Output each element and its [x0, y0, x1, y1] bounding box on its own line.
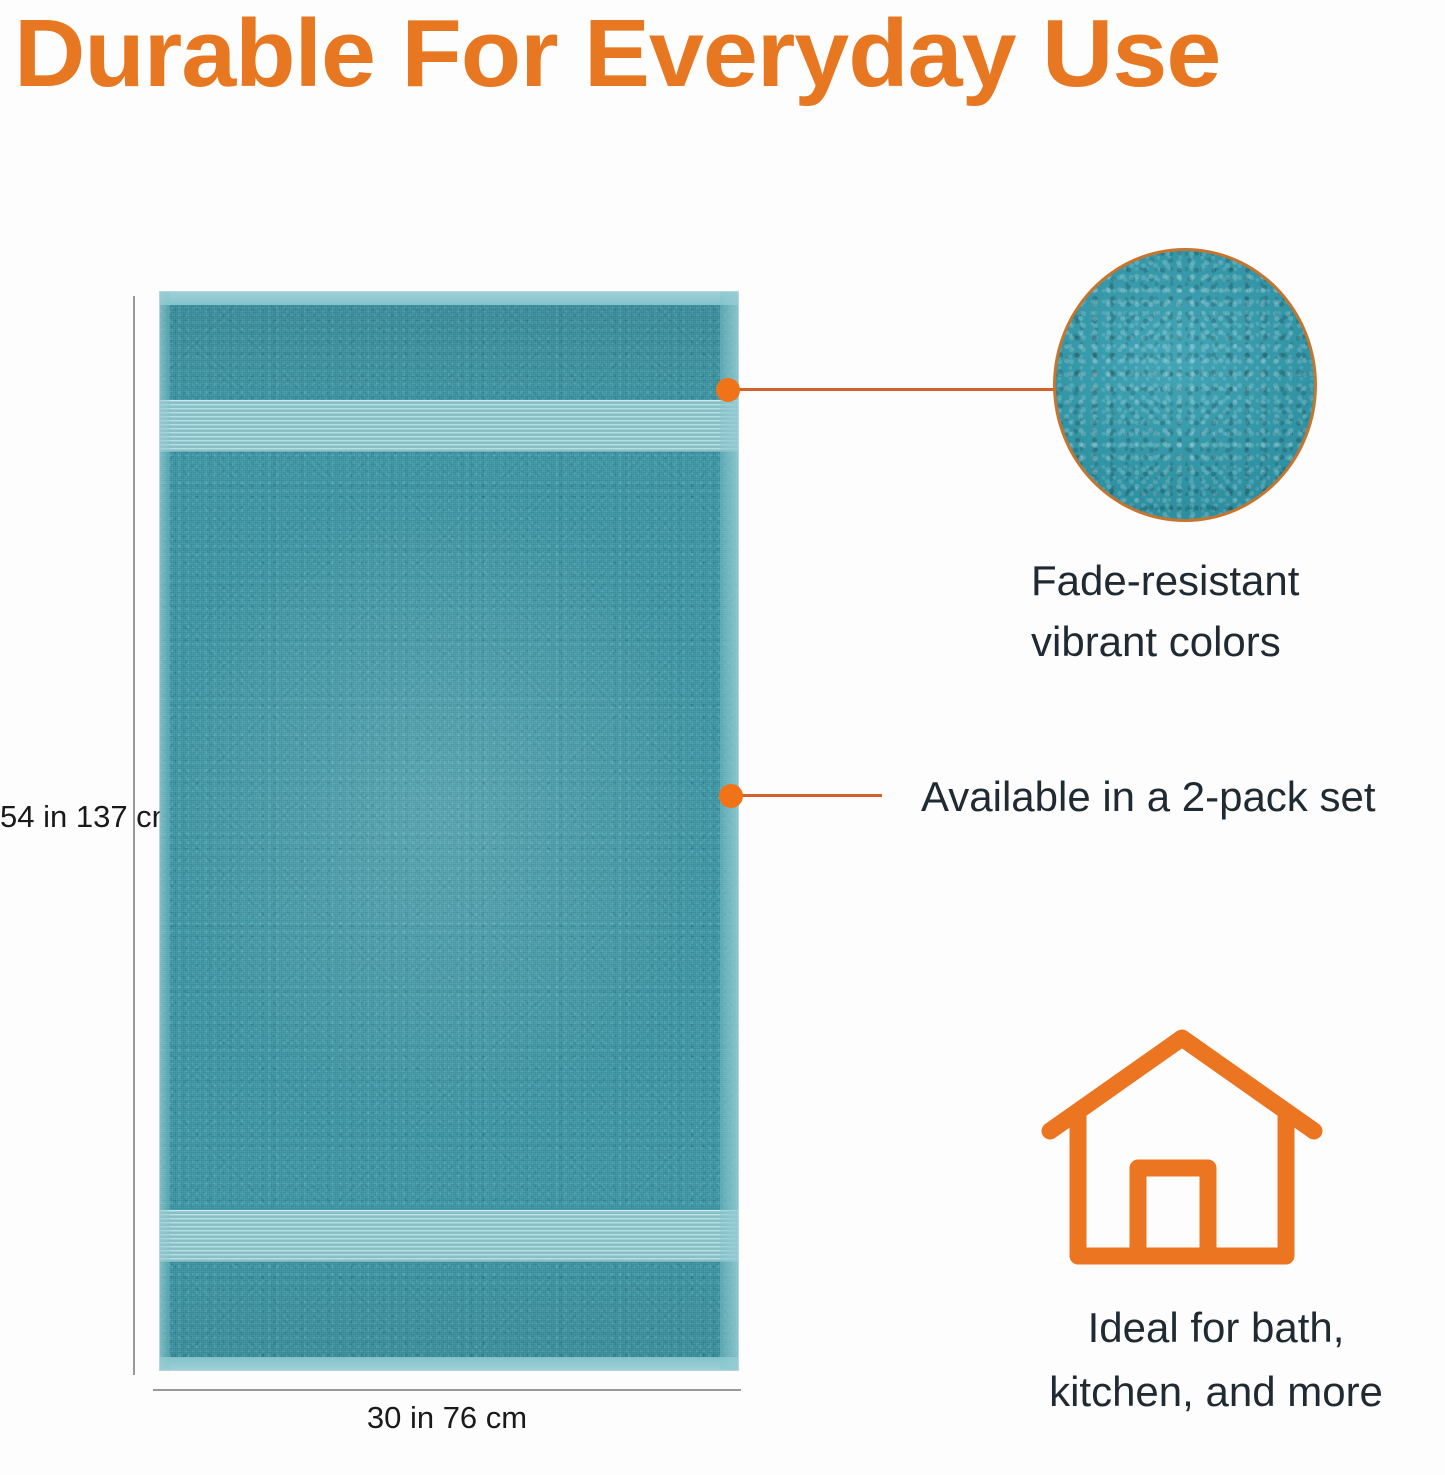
- towel-dobby-band-bottom: [160, 1210, 738, 1262]
- towel-selvedge-right: [720, 292, 738, 1370]
- leader-line-fade-resistant: [733, 388, 1055, 391]
- feature-label-fade-resistant: Fade-resistant vibrant colors: [1031, 550, 1299, 672]
- towel-hem-top: [160, 292, 738, 305]
- height-dimension-label: 54 in 137 cm: [0, 797, 118, 837]
- terry-texture: [160, 292, 738, 1370]
- leader-line-two-pack: [736, 794, 882, 797]
- towel-dobby-band-top: [160, 400, 738, 452]
- magnifier-circle-icon: [1053, 248, 1317, 522]
- feature-label-ideal-use: Ideal for bath, kitchen, and more: [1016, 1296, 1416, 1424]
- towel-selvedge-left: [160, 292, 170, 1370]
- magnifier-sheen: [1056, 251, 1314, 519]
- callout-dot-two-pack: [719, 784, 743, 808]
- house-icon: [1032, 1028, 1332, 1278]
- callout-dot-fade-resistant: [716, 378, 740, 402]
- height-dimension-line: [133, 296, 135, 1375]
- width-dimension-label: 30 in 76 cm: [153, 1398, 741, 1438]
- towel-image: [160, 292, 738, 1370]
- page-title: Durable For Everyday Use: [14, 2, 1445, 110]
- width-dimension-line: [153, 1389, 741, 1391]
- product-infographic: Durable For Everyday Use 54 in 137 cm 30…: [0, 0, 1445, 1475]
- feature-label-two-pack: Available in a 2-pack set: [921, 766, 1376, 827]
- towel-sheen: [160, 292, 738, 1370]
- towel-body: [160, 292, 738, 1370]
- terry-weave: [160, 292, 738, 1370]
- towel-hem-bottom: [160, 1357, 738, 1370]
